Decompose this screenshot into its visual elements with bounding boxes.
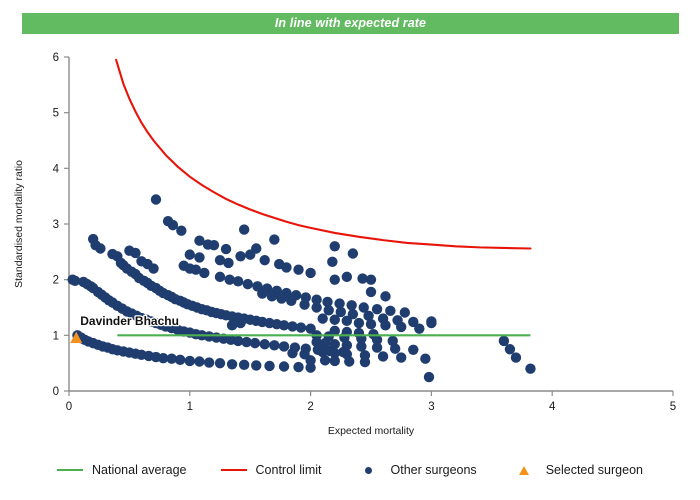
x-axis-title: Expected mortality xyxy=(328,425,415,437)
data-point xyxy=(426,316,436,326)
circle-marker-icon xyxy=(365,467,372,474)
data-point xyxy=(185,249,195,259)
y-tick-label: 3 xyxy=(53,219,59,231)
data-point xyxy=(151,194,161,204)
legend-swatch xyxy=(356,464,382,476)
x-tick-label: 5 xyxy=(670,401,676,413)
data-point xyxy=(203,239,213,249)
control-limit-curve xyxy=(116,60,530,249)
data-point xyxy=(390,343,400,353)
data-point xyxy=(317,313,327,323)
legend-swatch xyxy=(57,464,83,476)
data-point xyxy=(408,345,418,355)
data-point xyxy=(243,279,253,289)
data-points-group xyxy=(67,194,535,382)
data-point xyxy=(324,305,334,315)
data-point xyxy=(305,268,315,278)
data-point xyxy=(511,352,521,362)
data-point xyxy=(424,372,434,382)
data-point xyxy=(279,361,289,371)
data-point xyxy=(311,302,321,312)
legend-item-selected-surgeon[interactable]: Selected surgeon xyxy=(511,463,643,477)
data-point xyxy=(499,336,509,346)
data-point xyxy=(372,304,382,314)
data-point xyxy=(233,276,243,286)
legend-item-control-limit[interactable]: Control limit xyxy=(221,463,322,477)
data-point xyxy=(366,274,376,284)
x-tick-label: 4 xyxy=(549,401,556,413)
data-point xyxy=(396,352,406,362)
y-tick-label: 5 xyxy=(53,108,59,120)
data-point xyxy=(239,224,249,234)
data-point xyxy=(342,272,352,282)
data-point xyxy=(420,354,430,364)
funnel-plot: 0123450123456Expected mortalityStandardi… xyxy=(0,40,700,450)
data-point xyxy=(194,252,204,262)
data-point xyxy=(330,274,340,284)
status-banner: In line with expected rate xyxy=(22,13,679,34)
line-swatch-icon xyxy=(221,469,247,471)
legend-item-national-average[interactable]: National average xyxy=(57,463,187,477)
data-point xyxy=(264,361,274,371)
data-point xyxy=(327,257,337,267)
data-point xyxy=(293,264,303,274)
data-point xyxy=(372,342,382,352)
data-point xyxy=(342,340,352,350)
data-point xyxy=(276,293,286,303)
data-point xyxy=(330,315,340,325)
data-point xyxy=(257,288,267,298)
data-point xyxy=(199,268,209,278)
data-point xyxy=(400,307,410,317)
data-point xyxy=(130,248,140,258)
data-point xyxy=(525,364,535,374)
data-point xyxy=(194,356,204,366)
data-point xyxy=(320,355,330,365)
data-point xyxy=(360,357,370,367)
data-point xyxy=(380,320,390,330)
status-banner-label: In line with expected rate xyxy=(275,17,426,30)
x-tick-label: 0 xyxy=(66,401,72,413)
data-point xyxy=(267,291,277,301)
data-point xyxy=(227,359,237,369)
data-point xyxy=(235,251,245,261)
data-point xyxy=(221,244,231,254)
data-point xyxy=(176,225,186,235)
data-point xyxy=(342,316,352,326)
legend-label: Selected surgeon xyxy=(546,463,643,477)
legend-item-other-surgeons[interactable]: Other surgeons xyxy=(356,463,477,477)
data-point xyxy=(279,341,289,351)
line-swatch-icon xyxy=(57,469,83,471)
plot-canvas: 0123450123456Expected mortalityStandardi… xyxy=(0,40,700,450)
data-point xyxy=(366,319,376,329)
data-point xyxy=(148,263,158,273)
data-point xyxy=(239,360,249,370)
data-point xyxy=(414,323,424,333)
reference-lines-group xyxy=(116,60,530,336)
axes-group: 0123450123456Expected mortalityStandardi… xyxy=(13,52,676,437)
data-point xyxy=(299,300,309,310)
x-tick-label: 3 xyxy=(428,401,434,413)
y-tick-label: 0 xyxy=(53,386,59,398)
data-point xyxy=(215,272,225,282)
data-point xyxy=(204,357,214,367)
chart-page: In line with expected rate 0123450123456… xyxy=(0,0,700,500)
data-point xyxy=(330,356,340,366)
legend-swatch xyxy=(511,464,537,476)
y-tick-label: 6 xyxy=(53,52,59,64)
data-point xyxy=(269,234,279,244)
data-point xyxy=(354,318,364,328)
x-tick-label: 2 xyxy=(307,401,313,413)
data-point xyxy=(356,341,366,351)
data-point xyxy=(330,339,340,349)
chart-legend: National averageControl limitOther surge… xyxy=(0,455,700,485)
data-point xyxy=(185,356,195,366)
data-point xyxy=(385,306,395,316)
selected-surgeon-label: Davinder Bhachu xyxy=(80,314,179,328)
legend-swatch xyxy=(221,464,247,476)
data-point xyxy=(330,241,340,251)
data-point xyxy=(281,262,291,272)
y-tick-label: 2 xyxy=(53,275,59,287)
data-point xyxy=(287,348,297,358)
data-point xyxy=(227,320,237,330)
y-axis-title: Standardised mortality ratio xyxy=(13,160,25,288)
data-point xyxy=(259,339,269,349)
triangle-marker-icon xyxy=(519,466,529,475)
data-point xyxy=(344,356,354,366)
y-tick-label: 1 xyxy=(53,330,59,342)
data-point xyxy=(175,355,185,365)
legend-label: National average xyxy=(92,463,187,477)
legend-label: Control limit xyxy=(256,463,322,477)
data-point xyxy=(215,358,225,368)
data-point xyxy=(366,287,376,297)
data-point xyxy=(320,338,330,348)
data-point xyxy=(396,322,406,332)
data-point xyxy=(293,362,303,372)
data-point xyxy=(505,344,515,354)
y-tick-label: 4 xyxy=(53,163,60,175)
x-tick-label: 1 xyxy=(187,401,193,413)
data-point xyxy=(95,243,105,253)
data-point xyxy=(251,243,261,253)
legend-label: Other surgeons xyxy=(391,463,477,477)
data-point xyxy=(380,291,390,301)
data-point xyxy=(348,248,358,258)
data-point xyxy=(286,296,296,306)
data-point xyxy=(296,322,306,332)
data-point xyxy=(346,300,356,310)
data-point xyxy=(378,351,388,361)
data-point xyxy=(305,355,315,365)
data-point xyxy=(250,338,260,348)
data-point xyxy=(223,258,233,268)
data-point xyxy=(259,255,269,265)
data-point xyxy=(251,360,261,370)
data-point xyxy=(269,340,279,350)
